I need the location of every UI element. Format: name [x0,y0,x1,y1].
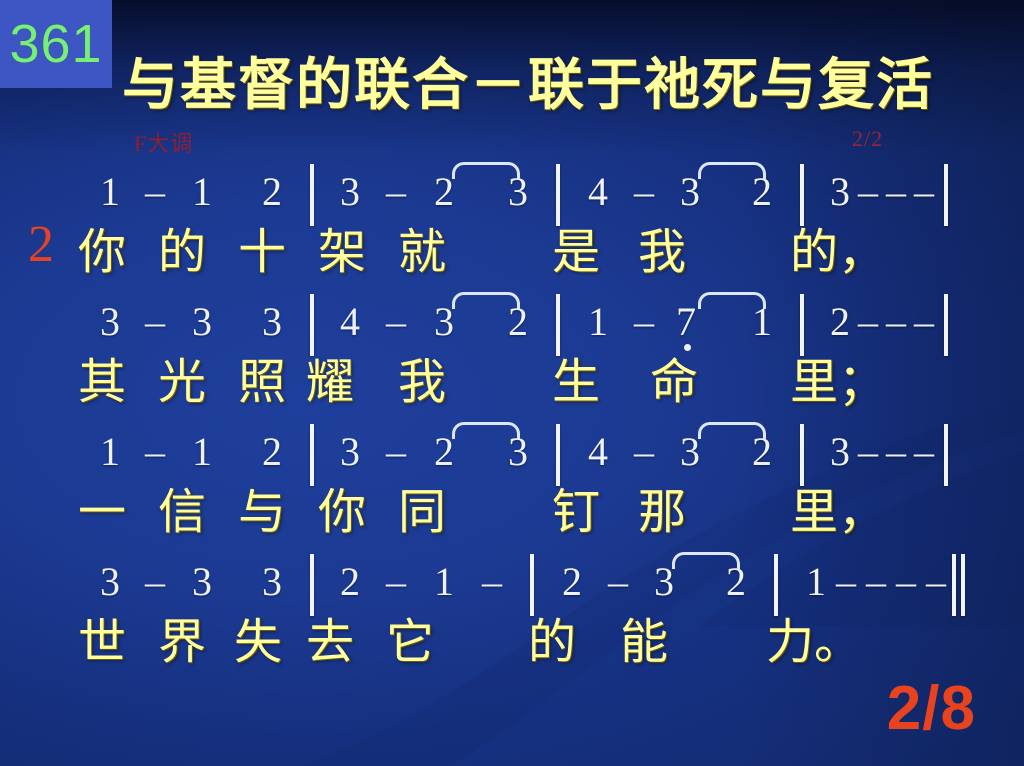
lyric-char: 信 [158,472,206,542]
note: 1 [192,428,212,475]
lyric-char: 那 [638,472,686,542]
lyric-char: 里， [790,472,886,542]
lyric-char: 就 [398,212,446,282]
note: 7 [676,298,696,345]
lyric-char: 同 [398,472,446,542]
lyric-char: 能 [620,602,668,672]
lyric-char: 命 [650,342,698,412]
lyric-char: 的 [528,602,576,672]
note: 3 [100,298,120,345]
note: – [896,558,916,605]
note: 3 [654,558,674,605]
note: 3 [680,428,700,475]
note: – [608,558,628,605]
note: 3 [262,298,282,345]
note: 4 [588,168,608,215]
note: 1 [752,298,772,345]
note: 3 [680,168,700,215]
lyric-char: 生 [552,342,600,412]
note: 2 [434,428,454,475]
lyric-char: 与 [238,472,286,542]
lyric-char: 去 [306,602,354,672]
lyric-char: 其 [78,342,126,412]
note: – [386,558,406,605]
lyric-char: 你 [78,212,126,282]
note: 3 [340,428,360,475]
slide-canvas: 361 与基督的联合－联于祂死与复活 F大调 2/2 2 1 – 1 2 3 –… [0,0,1024,766]
lyric-char: 十 [238,212,286,282]
note: – [914,428,934,475]
note: 2 [508,298,528,345]
note: 1 [588,298,608,345]
note: – [386,168,406,215]
note: – [858,428,878,475]
lyric-char: 的， [790,212,886,282]
note: 2 [752,428,772,475]
page-title: 与基督的联合－联于祂死与复活 [122,40,934,121]
lyric-char: 我 [398,342,446,412]
lyrics-row-3: 一 信 与 你 同 钉 那 里， [0,472,1024,552]
note: 3 [100,558,120,605]
note: – [858,168,878,215]
lyrics-row-4: 世 界 失 去 它 的 能 力。 [0,602,1024,682]
note: – [886,298,906,345]
lyric-char: 你 [318,472,366,542]
note: 2 [726,558,746,605]
note: – [926,558,946,605]
note: 1 [100,168,120,215]
key-signature: F大调 [134,126,193,158]
hymn-number: 361 [9,17,102,71]
lyric-char: 是 [552,212,600,282]
note: – [634,428,654,475]
lyrics-row-1: 你 的 十 架 就 是 我 的， [0,212,1024,292]
music-system-3: 1 – 1 2 3 – 2 3 4 – 3 2 3 – – – 一 信 与 [0,428,1024,558]
note: 3 [830,168,850,215]
note: 1 [100,428,120,475]
note: – [866,558,886,605]
lyric-char: 我 [638,212,686,282]
note: 3 [830,428,850,475]
lyric-char: 里； [790,342,886,412]
note: – [914,168,934,215]
lyric-char: 失 [234,602,282,672]
note: – [145,428,165,475]
page-index: 2/8 [887,673,976,744]
lyric-char: 世 [78,602,126,672]
lyric-char: 的 [158,212,206,282]
lyric-char: 耀 [306,342,354,412]
lyric-char: 钉 [552,472,600,542]
note: – [634,298,654,345]
note: – [145,298,165,345]
music-system-1: 1 – 1 2 3 – 2 3 4 – 3 2 3 – – – 你 的 十 [0,168,1024,298]
note: – [145,558,165,605]
lyric-char: 照 [238,342,286,412]
note: 4 [340,298,360,345]
note: 3 [434,298,454,345]
lyric-char: 一 [78,472,126,542]
note: 2 [752,168,772,215]
lyric-char: 它 [386,602,434,672]
lyric-char: 界 [158,602,206,672]
verse-of-total: 2/2 [852,126,883,152]
note: 2 [562,558,582,605]
note: 2 [262,428,282,475]
note: 3 [192,298,212,345]
note: 3 [192,558,212,605]
note: – [914,298,934,345]
note: 4 [588,428,608,475]
hymn-number-badge: 361 [0,0,112,88]
note: 1 [806,558,826,605]
note: 1 [192,168,212,215]
music-system-2: 3 – 3 3 4 – 3 2 1 – 7 1 2 – – – 其 光 [0,298,1024,428]
note: 2 [830,298,850,345]
note: 3 [340,168,360,215]
note: – [386,298,406,345]
note: 2 [340,558,360,605]
lyrics-row-2: 其 光 照 耀 我 生 命 里； [0,342,1024,422]
note: 2 [434,168,454,215]
note: – [886,168,906,215]
note: 3 [508,428,528,475]
lyric-char: 力。 [766,602,862,672]
note: 3 [262,558,282,605]
note: – [836,558,856,605]
lyric-char: 光 [158,342,206,412]
note: – [886,428,906,475]
note: – [386,428,406,475]
note: 3 [508,168,528,215]
music-system-4: 3 – 3 3 2 – 1 – 2 – 3 2 1 – – – – 世 界 [0,558,1024,688]
note: 1 [434,558,454,605]
note: – [482,558,502,605]
note: – [145,168,165,215]
note: – [634,168,654,215]
lyric-char: 架 [318,212,366,282]
note: – [858,298,878,345]
note: 2 [262,168,282,215]
